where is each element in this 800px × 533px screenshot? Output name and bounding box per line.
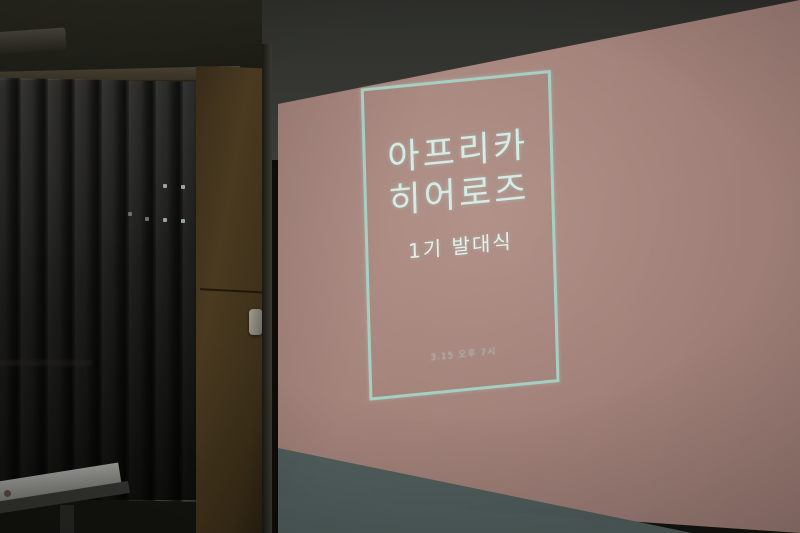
blind-specular-dot <box>181 219 185 223</box>
desk-object <box>4 490 11 497</box>
wood-wall-panel <box>196 66 272 533</box>
blind-specular-dot <box>128 212 132 216</box>
wall-sensor-icon[interactable] <box>249 309 262 335</box>
desk-leg <box>60 505 74 533</box>
window-mullion <box>0 360 92 366</box>
blind-specular-dot <box>181 185 185 189</box>
slide-title-block: 아프리카 히어로즈 1기 발대식 <box>362 122 556 269</box>
vertical-blinds <box>0 78 222 503</box>
blind-specular-dot <box>163 184 167 188</box>
slide-content: 아프리카 히어로즈 1기 발대식 3.15 오후 7시 <box>262 0 800 533</box>
blind-specular-dot <box>145 217 149 221</box>
screen-left-edge <box>262 44 272 533</box>
blind-specular-dot <box>163 218 167 222</box>
projection-screen: 아프리카 히어로즈 1기 발대식 3.15 오후 7시 <box>262 0 800 533</box>
photo-screenshot: 아프리카 히어로즈 1기 발대식 3.15 오후 7시 <box>0 0 800 533</box>
